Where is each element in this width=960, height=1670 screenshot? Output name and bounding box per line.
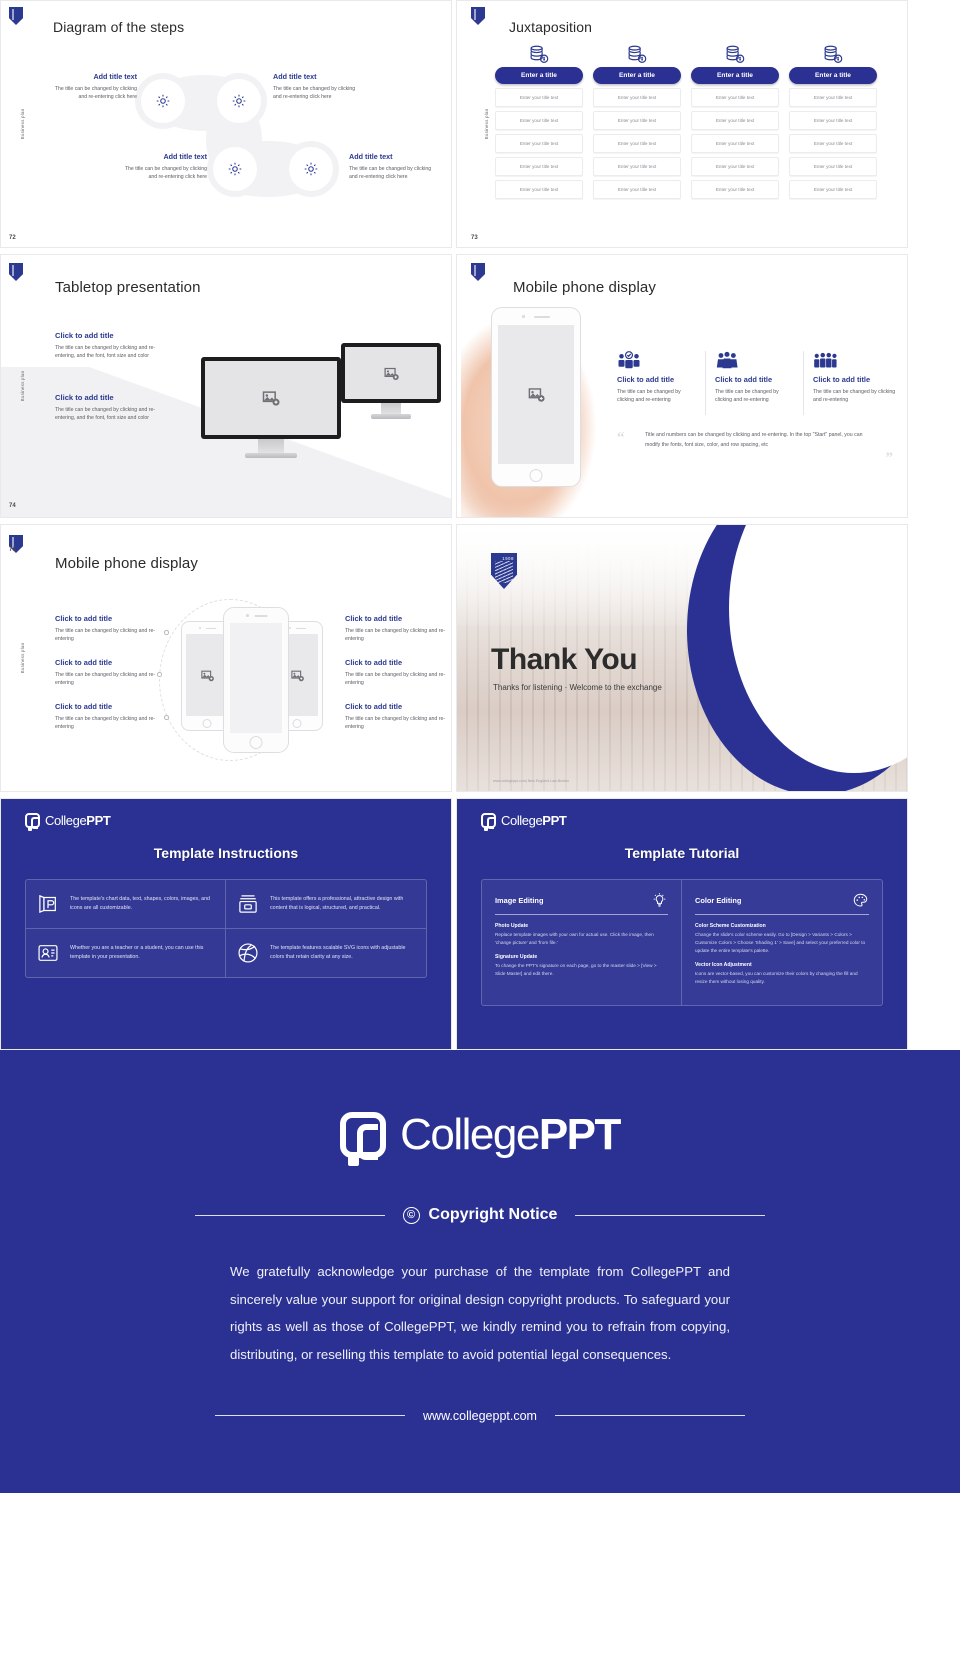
ppt-slide-icon (35, 891, 61, 917)
item-title: Click to add title (55, 615, 159, 624)
step-body: The title can be changed by clicking and… (117, 165, 207, 181)
people-group-icon (813, 351, 837, 371)
step-title: Add title text (51, 73, 137, 82)
slide-mobile-phone-display-2[interactable]: Business plan Mobile phone display (0, 524, 452, 792)
collegeppt-logo-text: CollegePPT (501, 813, 566, 828)
quote-text: Title and numbers can be changed by clic… (645, 431, 867, 451)
item-title: Click to add title (345, 659, 449, 668)
gear-icon (155, 93, 171, 109)
page-number: 74 (9, 503, 16, 509)
left-item-1: Click to add title The title can be chan… (55, 615, 159, 643)
step-text-3: Add title text The title can be changed … (117, 153, 207, 181)
instruction-text: The template's chart data, text, shapes,… (70, 895, 216, 914)
page-number: 73 (471, 235, 478, 241)
slide-side-label: Business plan (20, 109, 25, 140)
column-cell[interactable]: Enter your title text (593, 180, 681, 199)
slide-juxtaposition[interactable]: Business plan Juxtaposition Enter a titl… (456, 0, 908, 248)
juxtaposition-column[interactable]: Enter a titleEnter your title textEnter … (593, 45, 681, 199)
feature-block-2: Click to add title The title can be chan… (715, 351, 797, 404)
juxtaposition-column[interactable]: Enter a titleEnter your title textEnter … (789, 45, 877, 199)
slide-side-label: Business plan (20, 371, 25, 402)
copyright-body-text: We gratefully acknowledge your purchase … (230, 1258, 730, 1369)
gear-icon (231, 93, 247, 109)
divider (695, 914, 869, 915)
instructions-title: Template Instructions (1, 845, 451, 861)
step-body: The title can be changed by clicking and… (51, 85, 137, 101)
step-text-2: Add title text The title can be changed … (273, 73, 365, 101)
instructions-card-grid: The template's chart data, text, shapes,… (25, 879, 427, 978)
instruction-text: The template features scalable SVG icons… (270, 944, 417, 963)
logo-text-college: College (400, 1110, 539, 1159)
tutorial-grid: Image Editing Photo Update Replace templ… (481, 879, 883, 1006)
shield-logo-icon (9, 263, 23, 281)
item-body: The title can be changed by clicking and… (345, 671, 449, 687)
column-title-pill[interactable]: Enter a title (789, 67, 877, 84)
tutorial-body: Change the slide's color scheme easily. … (695, 931, 869, 955)
feature-body: The title can be changed by clicking and… (715, 388, 797, 404)
slide-diagram-of-the-steps[interactable]: Business plan Diagram of the steps (0, 0, 452, 248)
collegeppt-mark-icon (340, 1112, 386, 1158)
gear-node-3[interactable] (213, 147, 257, 191)
people-group-icon (715, 351, 739, 371)
shield-logo-icon (471, 7, 485, 25)
column-cell[interactable]: Enter your title text (495, 88, 583, 107)
tutorial-title: Template Tutorial (457, 845, 907, 861)
quote-close-icon: ” (886, 451, 894, 466)
column-cell[interactable]: Enter your title text (691, 157, 779, 176)
coins-stack-icon (822, 45, 844, 63)
feature-body: The title can be changed by clicking and… (617, 388, 699, 404)
item-title: Click to add title (345, 615, 449, 624)
gear-icon (303, 161, 319, 177)
divider-right (555, 1415, 745, 1416)
column-cell[interactable]: Enter your title text (789, 88, 877, 107)
image-placeholder-icon (527, 385, 546, 404)
step-text-1: Add title text The title can be changed … (51, 73, 137, 101)
collegeppt-logo: CollegePPT (481, 813, 566, 828)
thank-you-title: Thank You (491, 643, 637, 677)
slide-side-label: Business plan (20, 643, 25, 674)
feature-title: Click to add title (813, 376, 897, 385)
tutorial-heading: Color Editing (695, 896, 741, 905)
left-item-2: Click to add title The title can be chan… (55, 659, 159, 687)
divider-left (215, 1415, 405, 1416)
quote-open-icon: “ (617, 431, 625, 446)
collegeppt-mark-icon (481, 813, 496, 828)
column-cell[interactable]: Enter your title text (495, 134, 583, 153)
slide-tabletop-presentation[interactable]: Business plan Tabletop presentation Clic… (0, 254, 452, 518)
gear-node-2[interactable] (217, 79, 261, 123)
template-preview-page: Business plan Diagram of the steps (0, 0, 960, 1493)
phone-home-button (530, 469, 543, 482)
phone-mockup-center (223, 607, 289, 753)
column-cell[interactable]: Enter your title text (691, 134, 779, 153)
instruction-card[interactable]: The template features scalable SVG icons… (226, 929, 426, 977)
crest-logo: 1908 (491, 553, 517, 589)
thank-you-subtitle: Thanks for listening · Welcome to the ex… (493, 683, 662, 692)
monitor-back (341, 343, 441, 419)
coins-stack-icon (724, 45, 746, 63)
tutorial-heading: Image Editing (495, 896, 543, 905)
copyright-notice-label-wrap: © Copyright Notice (403, 1206, 558, 1224)
slide-title: Diagram of the steps (53, 19, 184, 35)
tabletop-text-1: Click to add title The title can be chan… (55, 331, 171, 360)
collegeppt-logo-text: CollegePPT (400, 1110, 620, 1160)
tabletop-text-2: Click to add title The title can be chan… (55, 393, 171, 422)
step-title: Add title text (349, 153, 441, 162)
collegeppt-logo-text: CollegePPT (45, 813, 110, 828)
gear-icon (227, 161, 243, 177)
palette-icon (852, 892, 869, 909)
column-cell[interactable]: Enter your title text (495, 157, 583, 176)
feature-title: Click to add title (617, 376, 699, 385)
tutorial-column-color-editing[interactable]: Color Editing Color Scheme Customization… (682, 880, 882, 1005)
logo-text-college: College (45, 813, 86, 828)
image-placeholder-icon (200, 668, 215, 683)
tutorial-subtitle: Photo Update (495, 923, 668, 929)
people-group-icon (617, 351, 641, 371)
column-cell[interactable]: Enter your title text (691, 180, 779, 199)
column-cell[interactable]: Enter your title text (789, 157, 877, 176)
phone-speaker-icon (534, 316, 550, 318)
column-title-pill[interactable]: Enter a title (691, 67, 779, 84)
feature-body: The title can be changed by clicking and… (813, 388, 897, 404)
lightbulb-icon (651, 892, 668, 909)
slide-mobile-phone-display-1[interactable]: Business plan Mobile phone display (456, 254, 908, 518)
crest-year-label: 1908 (502, 556, 514, 561)
divider-left (195, 1215, 385, 1216)
column-cell[interactable]: Enter your title text (593, 134, 681, 153)
copyright-logo: CollegePPT (0, 1110, 960, 1160)
collegeppt-logo: CollegePPT (25, 813, 110, 828)
column-cell[interactable]: Enter your title text (691, 111, 779, 130)
tutorial-body: Icons are vector-based, you can customiz… (695, 970, 869, 986)
phone-mockup (491, 307, 581, 487)
column-cell[interactable]: Enter your title text (495, 111, 583, 130)
item-body: The title can be changed by clicking and… (55, 715, 159, 731)
juxtaposition-column[interactable]: Enter a titleEnter your title textEnter … (495, 45, 583, 199)
tutorial-body: Replace template images with your own fo… (495, 931, 668, 947)
item-title: Click to add title (55, 331, 171, 340)
instruction-card[interactable]: This template offers a professional, att… (226, 880, 426, 929)
instruction-card[interactable]: Whether you are a teacher or a student, … (26, 929, 226, 977)
right-item-2: Click to add title The title can be chan… (345, 659, 449, 687)
divider (803, 351, 804, 415)
divider (705, 351, 706, 415)
feature-block-3: Click to add title The title can be chan… (813, 351, 897, 404)
column-cell[interactable]: Enter your title text (593, 111, 681, 130)
feature-block-1: Click to add title The title can be chan… (617, 351, 699, 404)
shield-logo-icon (471, 263, 485, 281)
feature-title: Click to add title (715, 376, 797, 385)
page-number: 72 (9, 235, 16, 241)
image-placeholder-icon (290, 668, 305, 683)
step-body: The title can be changed by clicking and… (349, 165, 441, 181)
item-body: The title can be changed by clicking and… (345, 627, 449, 643)
slide-side-label: Business plan (484, 109, 489, 140)
thank-you-caption: www.collegeppt.com| New England Law-Bost… (493, 779, 569, 783)
item-body: The title can be changed by clicking and… (55, 406, 171, 422)
instruction-card[interactable]: The template's chart data, text, shapes,… (26, 880, 226, 929)
image-placeholder-icon (261, 388, 281, 408)
item-title: Click to add title (55, 703, 159, 712)
juxtaposition-column[interactable]: Enter a titleEnter your title textEnter … (691, 45, 779, 199)
column-title-pill[interactable]: Enter a title (593, 67, 681, 84)
coins-stack-icon (528, 45, 550, 63)
phone-screen (498, 325, 574, 464)
column-cell[interactable]: Enter your title text (691, 88, 779, 107)
collegeppt-mark-icon (25, 813, 40, 828)
slide-title: Mobile phone display (55, 555, 198, 572)
logo-text-ppt: PPT (86, 813, 110, 828)
copyright-url-row: www.collegeppt.com (0, 1409, 960, 1423)
coins-stack-icon (626, 45, 648, 63)
item-body: The title can be changed by clicking and… (55, 671, 159, 687)
divider-right (575, 1215, 765, 1216)
logo-text-college: College (501, 813, 542, 828)
right-item-3: Click to add title The title can be chan… (345, 703, 449, 731)
step-body: The title can be changed by clicking and… (273, 85, 365, 101)
tutorial-body: To change the PPT's signature on each pa… (495, 962, 668, 978)
gear-node-1[interactable] (141, 79, 185, 123)
dribbble-icon (235, 940, 261, 966)
slide-template-tutorial[interactable]: CollegePPT Template Tutorial Image Editi… (456, 798, 908, 1050)
instruction-text: This template offers a professional, att… (270, 895, 417, 914)
item-title: Click to add title (55, 659, 159, 668)
id-card-icon (35, 940, 61, 966)
tutorial-subtitle: Vector Icon Adjustment (695, 962, 869, 968)
page-number: 76 (9, 547, 16, 553)
slide-grid: Business plan Diagram of the steps (0, 0, 960, 1050)
orbit-dot (164, 715, 169, 720)
step-title: Add title text (273, 73, 365, 82)
copyright-notice-label: Copyright Notice (429, 1206, 558, 1224)
monitor-front (201, 357, 341, 458)
item-title: Click to add title (345, 703, 449, 712)
website-url[interactable]: www.collegeppt.com (423, 1409, 537, 1423)
column-cell[interactable]: Enter your title text (593, 88, 681, 107)
logo-text-ppt: PPT (542, 813, 566, 828)
divider (495, 914, 668, 915)
phone-camera-icon (522, 315, 525, 318)
logo-text-ppt: PPT (539, 1110, 620, 1159)
archive-box-icon (235, 891, 261, 917)
column-cell[interactable]: Enter your title text (593, 157, 681, 176)
step-title: Add title text (117, 153, 207, 162)
copyright-notice-header: © Copyright Notice (0, 1206, 960, 1224)
left-item-3: Click to add title The title can be chan… (55, 703, 159, 731)
copyright-section: CollegePPT © Copyright Notice We gratefu… (0, 1050, 960, 1493)
column-cell[interactable]: Enter your title text (789, 111, 877, 130)
tutorial-subtitle: Color Scheme Customization (695, 923, 869, 929)
slide-title: Juxtaposition (509, 19, 592, 35)
tutorial-subtitle: Signature Update (495, 954, 668, 960)
image-placeholder-icon (383, 365, 400, 382)
column-title-pill[interactable]: Enter a title (495, 67, 583, 84)
copyright-icon: © (403, 1207, 420, 1224)
gear-node-4[interactable] (289, 147, 333, 191)
item-title: Click to add title (55, 393, 171, 402)
item-body: The title can be changed by clicking and… (55, 344, 171, 360)
right-item-1: Click to add title The title can be chan… (345, 615, 449, 643)
column-cell[interactable]: Enter your title text (789, 180, 877, 199)
slide-template-instructions[interactable]: CollegePPT Template Instructions The tem… (0, 798, 452, 1050)
orbit-dot (164, 630, 169, 635)
shield-logo-icon (9, 7, 23, 25)
column-cell[interactable]: Enter your title text (789, 134, 877, 153)
step-text-4: Add title text The title can be changed … (349, 153, 441, 181)
item-body: The title can be changed by clicking and… (345, 715, 449, 731)
instruction-text: Whether you are a teacher or a student, … (70, 944, 216, 963)
slide-title: Tabletop presentation (55, 279, 201, 296)
column-cell[interactable]: Enter your title text (495, 180, 583, 199)
item-body: The title can be changed by clicking and… (55, 627, 159, 643)
slide-thank-you[interactable]: 1908 Thank You Thanks for listening · We… (456, 524, 908, 792)
tutorial-column-image-editing[interactable]: Image Editing Photo Update Replace templ… (482, 880, 682, 1005)
